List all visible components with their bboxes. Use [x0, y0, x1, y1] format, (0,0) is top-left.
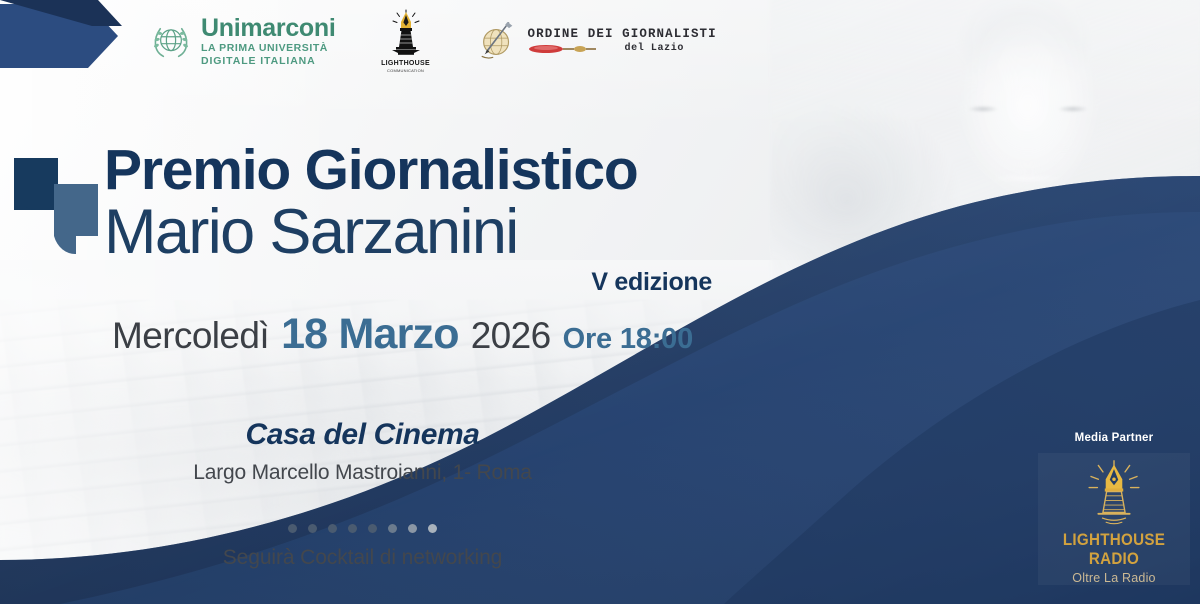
award-title-line-1: Premio Giornalistico	[104, 143, 884, 198]
odg-flourish-icon	[528, 44, 620, 54]
dotted-divider	[0, 524, 725, 533]
quote-mark-icon	[8, 148, 104, 272]
lighthouse-comm-name: LIGHTHOUSE	[381, 60, 430, 67]
media-partner-name: LIGHTHOUSE RADIO	[1044, 531, 1184, 569]
divider-dot	[288, 524, 297, 533]
headline-block: Premio Giornalistico Mario Sarzanini V e…	[104, 143, 884, 297]
divider-dot	[408, 524, 417, 533]
award-title-line-2: Mario Sarzanini	[104, 200, 884, 264]
event-day-month: 18 Marzo	[281, 310, 459, 359]
event-poster: Unimarconi LA PRIMA UNIVERSITÀ DIGITALE …	[0, 0, 1200, 604]
event-year: 2026	[471, 315, 551, 357]
logo-lighthouse-communication: LIGHTHOUSE COMMUNICATION	[378, 9, 434, 73]
divider-dot	[388, 524, 397, 533]
logo-unimarconi: Unimarconi LA PRIMA UNIVERSITÀ DIGITALE …	[148, 16, 336, 66]
media-partner-tagline: Oltre La Radio	[1072, 571, 1155, 585]
unimarconi-subtitle-2: DIGITALE ITALIANA	[201, 56, 336, 67]
venue-address: Largo Marcello Mastroianni, 1- Roma	[0, 461, 725, 485]
venue-block: Casa del Cinema Largo Marcello Mastroian…	[0, 418, 725, 485]
logo-ordine-dei-giornalisti: ORDINE DEI GIORNALISTI del Lazio	[476, 18, 717, 64]
divider-dot	[308, 524, 317, 533]
divider-dot	[428, 524, 437, 533]
networking-note: Seguirà Cocktail di networking	[0, 546, 725, 570]
divider-dot	[368, 524, 377, 533]
lighthouse-pen-icon	[384, 9, 428, 59]
odg-name: ORDINE DEI GIORNALISTI	[528, 28, 717, 41]
lighthouse-comm-subtitle: COMMUNICATION	[387, 68, 424, 73]
globe-quill-icon	[476, 18, 520, 64]
edition-label: V edizione	[104, 268, 884, 297]
chevron-arrow-icon	[0, 0, 150, 70]
media-partner-card: LIGHTHOUSE RADIO Oltre La Radio	[1038, 453, 1190, 585]
media-partner-block: Media Partner	[1038, 432, 1190, 585]
divider-dot	[348, 524, 357, 533]
venue-name: Casa del Cinema	[0, 418, 725, 452]
divider-dot	[328, 524, 337, 533]
lighthouse-pen-icon	[1075, 459, 1153, 529]
unimarconi-name: Unimarconi	[201, 16, 336, 41]
event-date-line: Mercoledì 18 Marzo 2026 Ore 18:00	[112, 310, 693, 359]
navy-wave-shape	[0, 0, 1200, 604]
unimarconi-subtitle-1: LA PRIMA UNIVERSITÀ	[201, 43, 336, 54]
event-weekday: Mercoledì	[112, 315, 269, 357]
event-time: Ore 18:00	[563, 323, 693, 356]
laurel-globe-icon	[148, 18, 194, 64]
sponsor-logo-row: Unimarconi LA PRIMA UNIVERSITÀ DIGITALE …	[148, 6, 717, 76]
media-partner-label: Media Partner	[1038, 432, 1190, 444]
odg-subtitle: del Lazio	[625, 44, 684, 54]
